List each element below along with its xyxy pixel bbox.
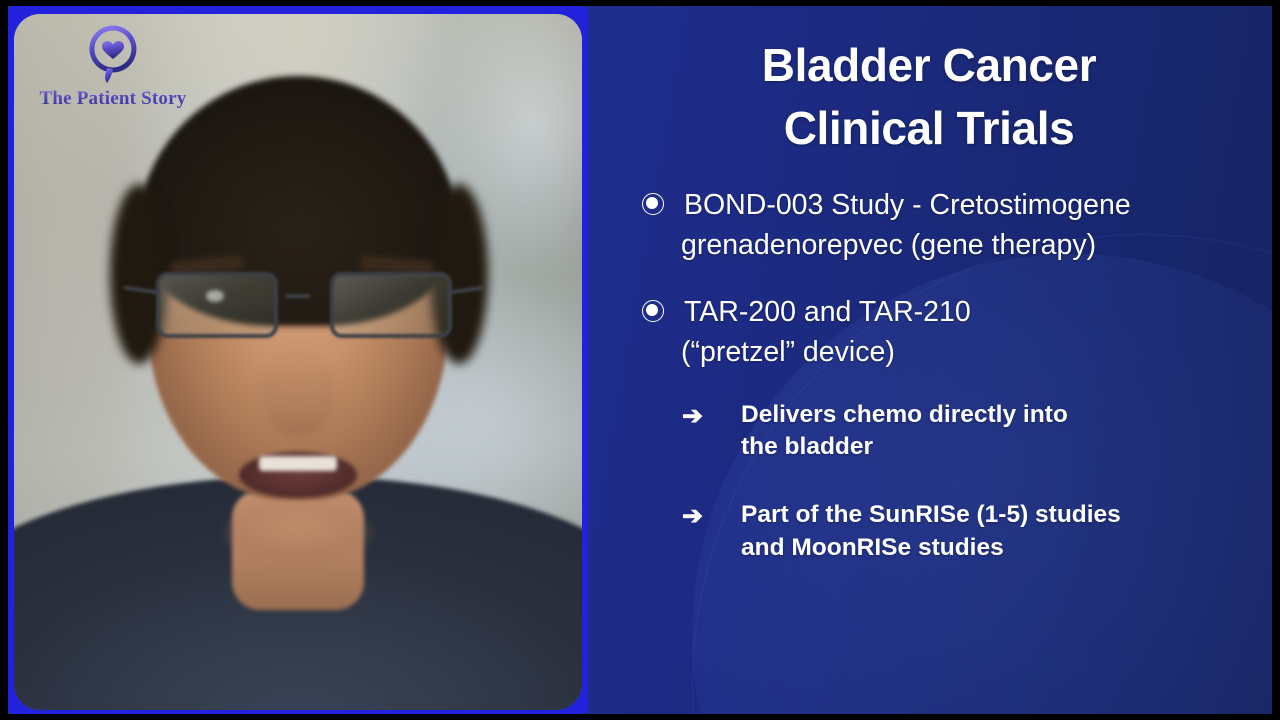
- sub-bullet-line-2: the bladder: [741, 431, 1068, 463]
- sub-bullet-item-sunrise-studies: ➔ Part of the SunRISe (1-5) studies and …: [682, 499, 1256, 564]
- page-title: Bladder Cancer Clinical Trials: [586, 34, 1272, 161]
- sub-bullet-item-text: Delivers chemo directly into the bladder: [741, 399, 1068, 464]
- sub-bullet-list: ➔ Delivers chemo directly into the bladd…: [586, 399, 1272, 564]
- bullet-line-1: BOND-003 Study - Cretostimogene: [684, 185, 1131, 225]
- page-title-line-2: Clinical Trials: [586, 97, 1272, 160]
- sub-bullet-item-text: Part of the SunRISe (1-5) studies and Mo…: [741, 499, 1121, 564]
- video-feed: The Patient Story: [14, 14, 582, 710]
- sub-bullet-item-delivers-chemo: ➔ Delivers chemo directly into the bladd…: [682, 399, 1256, 464]
- bullet-item-tar-200-210: TAR-200 and TAR-210 (“pretzel” device): [642, 292, 1256, 373]
- video-panel-frame: The Patient Story: [8, 6, 588, 714]
- subject-teeth: [259, 456, 337, 471]
- eyeglasses-icon: [14, 272, 582, 350]
- eyeglass-lens-left: [156, 272, 278, 338]
- heart-in-teardrop-icon: [85, 24, 141, 86]
- bullet-line-2: (“pretzel” device): [681, 332, 971, 372]
- eyeglass-temple-left: [124, 286, 158, 295]
- radio-circle-bullet-icon: [642, 193, 664, 215]
- sub-bullet-line-2: and MoonRISe studies: [741, 532, 1121, 564]
- radio-circle-bullet-icon: [642, 300, 664, 322]
- subject-chin: [223, 502, 373, 566]
- eyeglass-lens-right: [330, 272, 452, 338]
- sub-bullet-line-1: Delivers chemo directly into: [741, 399, 1068, 431]
- page-title-line-1: Bladder Cancer: [586, 34, 1272, 97]
- bullet-item-text: TAR-200 and TAR-210 (“pretzel” device): [684, 292, 971, 373]
- sub-bullet-line-1: Part of the SunRISe (1-5) studies: [741, 499, 1121, 531]
- brand-logo: The Patient Story: [18, 24, 208, 110]
- arrow-right-icon: ➔: [682, 503, 716, 531]
- eyeglass-bridge: [286, 294, 310, 298]
- slide-stage: Bladder Cancer Clinical Trials BOND-003 …: [0, 0, 1280, 720]
- bullet-line-2: grenadenorepvec (gene therapy): [681, 225, 1131, 265]
- bullet-item-text: BOND-003 Study - Cretostimogene grenaden…: [684, 185, 1131, 266]
- arrow-right-icon: ➔: [682, 403, 716, 431]
- eyeglass-temple-right: [450, 286, 484, 295]
- subject-nose: [262, 344, 334, 436]
- bullet-line-1: TAR-200 and TAR-210: [684, 292, 971, 332]
- slide-content: Bladder Cancer Clinical Trials BOND-003 …: [586, 6, 1272, 708]
- bullet-item-bond-003: BOND-003 Study - Cretostimogene grenaden…: [642, 185, 1256, 266]
- video-subject: [14, 14, 582, 710]
- brand-logo-text: The Patient Story: [18, 88, 208, 110]
- eyeglass-glint: [206, 290, 224, 302]
- bullet-list: BOND-003 Study - Cretostimogene grenaden…: [586, 185, 1272, 373]
